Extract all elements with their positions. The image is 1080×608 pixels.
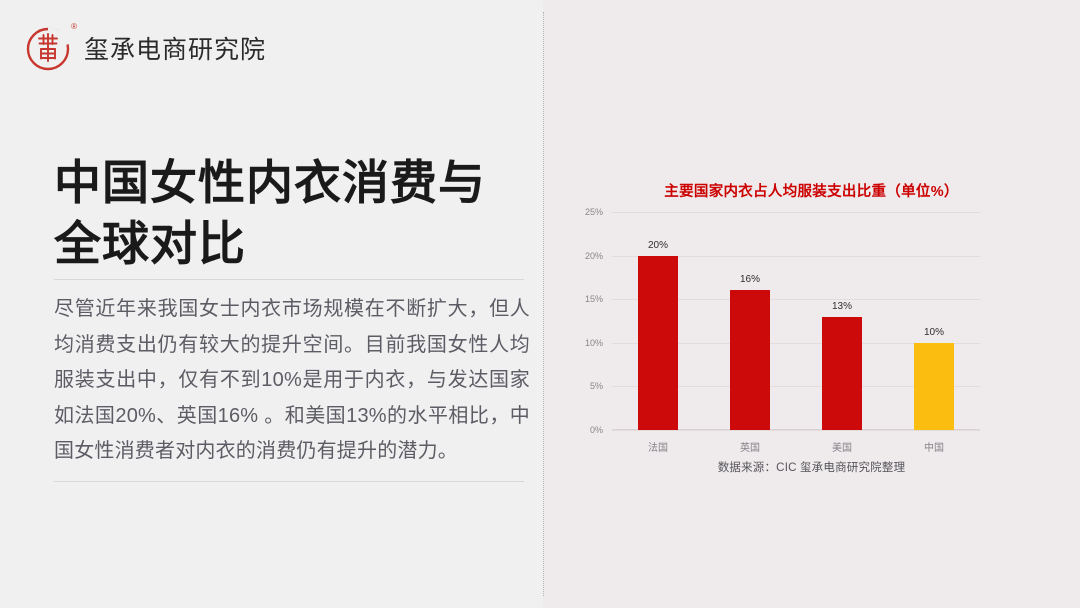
chart-y-tick-label: 0% — [590, 425, 603, 435]
chart-x-category-label: 美国 — [832, 439, 852, 454]
chart-bar-group: 16%英国 — [704, 212, 796, 430]
chart-y-tick-label: 5% — [590, 381, 603, 391]
chart-bar-value-label: 13% — [832, 301, 852, 312]
chart-bar-value-label: 20% — [648, 240, 668, 251]
chart-bar-value-label: 16% — [740, 274, 760, 285]
body-paragraph: 尽管近年来我国女士内衣市场规模在不断扩大，但人均消费支出仍有较大的提升空间。目前… — [54, 292, 530, 470]
chart-source-note: 数据来源：CIC 玺承电商研究院整理 — [543, 459, 1080, 475]
page-title: 中国女性内衣消费与全球对比 — [54, 152, 524, 274]
brand-logo: ® 玺承电商研究院 — [24, 22, 266, 74]
brand-name: 玺承电商研究院 — [84, 30, 266, 66]
panel-divider — [543, 12, 544, 596]
chart-bar: 16%英国 — [730, 290, 770, 430]
chart-y-tick-label: 20% — [585, 251, 603, 261]
chart-plot-area: 0%5%10%15%20%25% 20%法国16%英国13%美国10%中国 — [612, 212, 980, 430]
chart-bars: 20%法国16%英国13%美国10%中国 — [612, 212, 980, 430]
chart-bar: 13%美国 — [822, 317, 862, 430]
seal-stamp-logo-icon: ® — [24, 22, 76, 74]
divider-rule-top — [54, 279, 524, 280]
divider-rule-bottom — [54, 481, 524, 482]
chart-x-category-label: 英国 — [740, 439, 760, 454]
chart-bar: 20%法国 — [638, 256, 678, 430]
chart-gridline: 0% — [612, 430, 980, 431]
slide-canvas: ® 玺承电商研究院 中国女性内衣消费与全球对比 尽管近年来我国女士内衣市场规模在… — [0, 0, 1080, 608]
chart-bar-value-label: 10% — [924, 327, 944, 338]
chart-x-category-label: 中国 — [924, 439, 944, 454]
chart-bar-group: 20%法国 — [612, 212, 704, 430]
chart-title: 主要国家内衣占人均服装支出比重（单位%） — [543, 180, 1080, 201]
chart-bar-group: 13%美国 — [796, 212, 888, 430]
chart-y-tick-label: 10% — [585, 338, 603, 348]
chart-y-tick-label: 25% — [585, 207, 603, 217]
chart-x-category-label: 法国 — [648, 439, 668, 454]
chart-y-tick-label: 15% — [585, 294, 603, 304]
chart-bar: 10%中国 — [914, 343, 954, 430]
registered-trademark-icon: ® — [71, 23, 77, 31]
chart-bar-group: 10%中国 — [888, 212, 980, 430]
